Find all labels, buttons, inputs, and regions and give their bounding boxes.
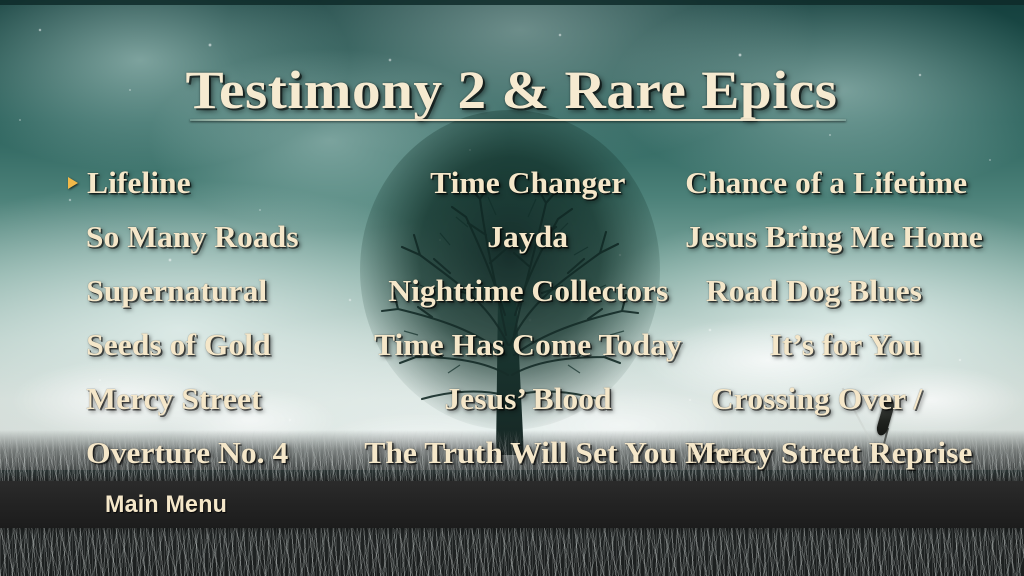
chapter-item-the-truth-will-set-you-free[interactable]: The Truth Will Set You Free: [368, 426, 688, 480]
chapter-item-mercy-street[interactable]: Mercy Street: [88, 372, 368, 426]
chapter-label: Time Has Come Today: [374, 318, 682, 372]
chapter-label: Time Changer: [430, 156, 625, 210]
title-block: Testimony 2 & Rare Epics: [0, 62, 1024, 118]
page-title: Testimony 2 & Rare Epics: [186, 62, 838, 118]
chapter-item-crossing-over-mercy-street-reprise[interactable]: Crossing Over / Mercy Street Reprise: [688, 372, 920, 480]
chapter-item-lifeline[interactable]: Lifeline: [88, 156, 368, 210]
chapter-label: Overture No. 4: [86, 426, 288, 480]
chapter-label: Chance of a Lifetime: [685, 156, 967, 210]
chapter-item-time-changer[interactable]: Time Changer: [368, 156, 688, 210]
chapter-item-its-for-you[interactable]: It’s for You: [688, 318, 920, 372]
chapter-list: Lifeline So Many Roads Supernatural Seed…: [0, 156, 1024, 476]
chapter-item-seeds-of-gold[interactable]: Seeds of Gold: [88, 318, 368, 372]
chapter-item-nighttime-collectors[interactable]: Nighttime Collectors: [368, 264, 688, 318]
chapter-item-road-dog-blues[interactable]: Road Dog Blues: [688, 264, 920, 318]
selection-cursor-icon: [68, 177, 78, 189]
chapter-item-jayda[interactable]: Jayda: [368, 210, 688, 264]
chapter-label: Supernatural: [86, 264, 267, 318]
chapter-label-line-2: Mercy Street Reprise: [686, 426, 923, 480]
top-letterbox-bar: [0, 0, 1024, 5]
chapter-item-supernatural[interactable]: Supernatural: [88, 264, 368, 318]
chapter-label: Jesus Bring Me Home: [685, 210, 983, 264]
chapter-label: Jesus’ Blood: [444, 372, 611, 426]
chapter-label: Seeds of Gold: [86, 318, 270, 372]
title-underline-rule: [190, 119, 846, 121]
chapter-column-3: Chance of a Lifetime Jesus Bring Me Home…: [688, 156, 920, 480]
chapter-label: Lifeline: [87, 156, 191, 210]
chapter-item-jesus-blood[interactable]: Jesus’ Blood: [368, 372, 688, 426]
chapter-label: Nighttime Collectors: [388, 264, 668, 318]
chapter-item-time-has-come-today[interactable]: Time Has Come Today: [368, 318, 688, 372]
chapter-label: Mercy Street: [86, 372, 261, 426]
dvd-menu-screen: Testimony 2 & Rare Epics Lifeline So Man…: [0, 0, 1024, 576]
chapter-item-chance-of-a-lifetime[interactable]: Chance of a Lifetime: [688, 156, 920, 210]
chapter-label-line-1: Crossing Over /: [686, 372, 923, 426]
chapter-item-overture-no-4[interactable]: Overture No. 4: [88, 426, 368, 480]
chapter-label: So Many Roads: [86, 210, 299, 264]
chapter-label: Jayda: [488, 210, 569, 264]
main-menu-button[interactable]: Main Menu: [105, 481, 227, 528]
chapter-label: Road Dog Blues: [706, 264, 922, 318]
chapter-column-1: Lifeline So Many Roads Supernatural Seed…: [88, 156, 368, 480]
chapter-label: It’s for You: [770, 318, 922, 372]
chapter-item-jesus-bring-me-home[interactable]: Jesus Bring Me Home: [688, 210, 920, 264]
chapter-column-2: Time Changer Jayda Nighttime Collectors …: [368, 156, 688, 480]
chapter-item-so-many-roads[interactable]: So Many Roads: [88, 210, 368, 264]
bottom-nav-bar: Main Menu: [0, 481, 1024, 528]
